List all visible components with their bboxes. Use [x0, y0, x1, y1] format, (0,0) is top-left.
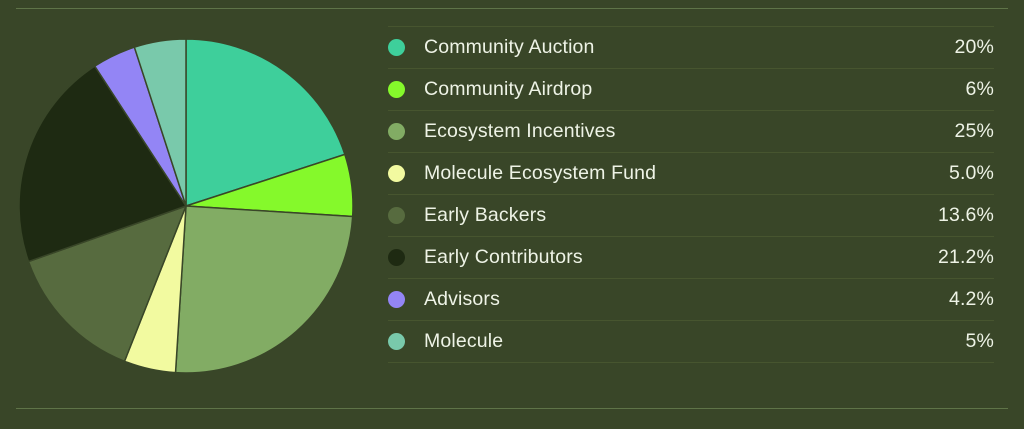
legend-value: 25% [904, 111, 994, 153]
pie-svg [18, 38, 354, 374]
chart-column [0, 26, 372, 374]
legend-row[interactable]: Molecule Ecosystem Fund5.0% [388, 153, 994, 195]
token-allocation-panel: Community Auction20%Community Airdrop6%E… [0, 0, 1024, 429]
legend-value: 13.6% [904, 195, 994, 237]
legend-swatch-cell [388, 321, 424, 363]
panel-content: Community Auction20%Community Airdrop6%E… [0, 26, 1024, 395]
legend-row[interactable]: Early Backers13.6% [388, 195, 994, 237]
color-swatch-icon [388, 291, 405, 308]
legend-value: 21.2% [904, 237, 994, 279]
color-swatch-icon [388, 81, 405, 98]
color-swatch-icon [388, 207, 405, 224]
legend-value: 4.2% [904, 279, 994, 321]
pie-chart [18, 38, 354, 374]
legend-value: 6% [904, 69, 994, 111]
legend-label: Advisors [424, 279, 904, 321]
legend-label: Early Contributors [424, 237, 904, 279]
legend-label: Community Airdrop [424, 69, 904, 111]
color-swatch-icon [388, 249, 405, 266]
legend-swatch-cell [388, 111, 424, 153]
legend-row[interactable]: Community Airdrop6% [388, 69, 994, 111]
legend-swatch-cell [388, 69, 424, 111]
legend-value: 5.0% [904, 153, 994, 195]
legend-label: Early Backers [424, 195, 904, 237]
top-divider [16, 8, 1008, 9]
pie-canvas [18, 38, 354, 374]
legend-swatch-cell [388, 153, 424, 195]
legend-value: 20% [904, 27, 994, 69]
legend-row[interactable]: Molecule5% [388, 321, 994, 363]
legend-label: Ecosystem Incentives [424, 111, 904, 153]
color-swatch-icon [388, 165, 405, 182]
bottom-divider [16, 408, 1008, 409]
legend-row[interactable]: Community Auction20% [388, 27, 994, 69]
legend-value: 5% [904, 321, 994, 363]
legend-table: Community Auction20%Community Airdrop6%E… [388, 26, 994, 363]
legend-swatch-cell [388, 195, 424, 237]
legend-label: Molecule [424, 321, 904, 363]
legend-swatch-cell [388, 237, 424, 279]
legend-label: Molecule Ecosystem Fund [424, 153, 904, 195]
legend-row[interactable]: Early Contributors21.2% [388, 237, 994, 279]
color-swatch-icon [388, 333, 405, 350]
pie-slice[interactable] [176, 206, 353, 373]
legend-swatch-cell [388, 279, 424, 321]
legend-row[interactable]: Ecosystem Incentives25% [388, 111, 994, 153]
legend-label: Community Auction [424, 27, 904, 69]
legend-column: Community Auction20%Community Airdrop6%E… [372, 26, 1024, 363]
color-swatch-icon [388, 123, 405, 140]
color-swatch-icon [388, 39, 405, 56]
legend-swatch-cell [388, 27, 424, 69]
legend-row[interactable]: Advisors4.2% [388, 279, 994, 321]
